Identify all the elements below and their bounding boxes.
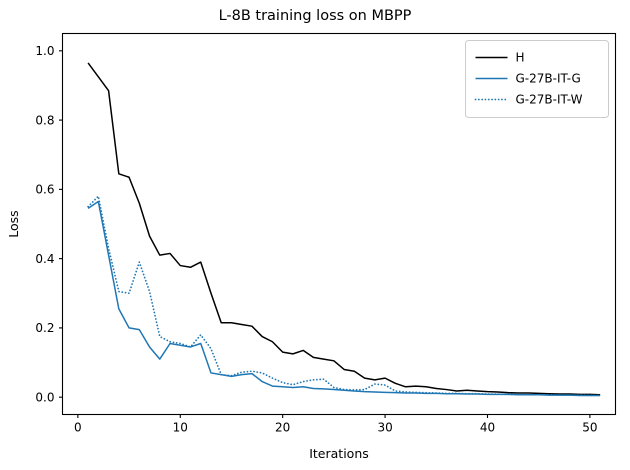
x-tick-label: 30: [377, 421, 392, 435]
x-tick-label: 20: [275, 421, 290, 435]
y-tick-label: 0.0: [35, 390, 54, 404]
x-tick-label: 40: [480, 421, 495, 435]
y-tick-label: 0.4: [35, 252, 54, 266]
chart-figure: L-8B training loss on MBPP 010203040500.…: [0, 0, 630, 470]
x-tick-label: 50: [582, 421, 597, 435]
series-line-g-27b-it-w: [88, 196, 600, 395]
y-tick-label: 0.2: [35, 321, 54, 335]
y-tick-label: 0.6: [35, 183, 54, 197]
legend-label-g-27b-it-w: G-27B-IT-W: [516, 93, 583, 107]
legend-label-h: H: [516, 51, 525, 65]
plot-area: 010203040500.00.20.40.60.81.0 Iterations…: [0, 0, 630, 470]
legend-label-g-27b-it-g: G-27B-IT-G: [516, 72, 581, 86]
legend[interactable]: HG-27B-IT-GG-27B-IT-W: [466, 41, 609, 118]
x-axis-title: Iterations: [309, 446, 369, 461]
series-line-g-27b-it-g: [88, 201, 600, 395]
y-axis-title: Loss: [6, 210, 21, 237]
y-tick-label: 1.0: [35, 44, 54, 58]
y-tick-label: 0.8: [35, 113, 54, 127]
x-tick-label: 0: [74, 421, 82, 435]
x-tick-label: 10: [173, 421, 188, 435]
